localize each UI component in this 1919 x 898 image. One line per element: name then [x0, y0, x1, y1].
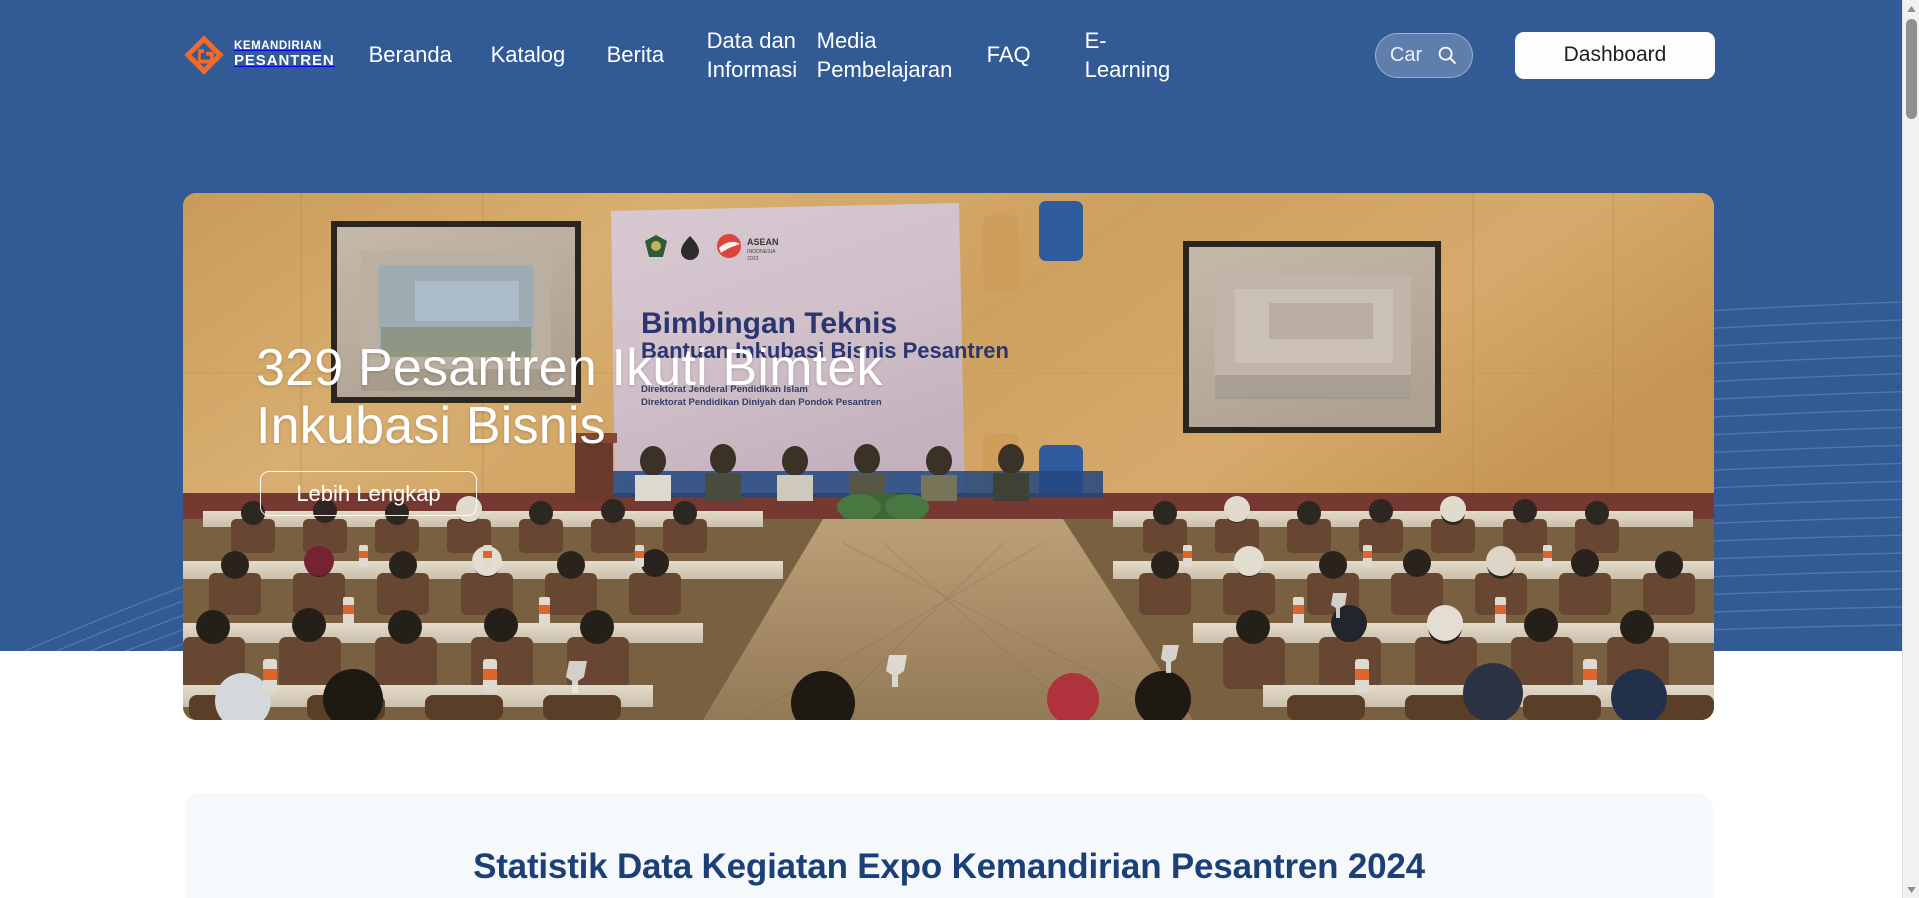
- statistics-section-card: Statistik Data Kegiatan Expo Kemandirian…: [185, 793, 1713, 898]
- nav-item-faq[interactable]: FAQ: [987, 40, 1085, 69]
- nav-item-katalog[interactable]: Katalog: [491, 40, 607, 69]
- page-viewport: KEMANDIRIAN PESANTREN Beranda Katalog Be…: [0, 0, 1902, 898]
- nav-links: Beranda Katalog Berita Data dan Informas…: [369, 26, 1367, 85]
- nav-item-media-pembelajaran[interactable]: Media Pembelajaran: [817, 26, 987, 85]
- brand-line2: PESANTREN: [234, 53, 335, 68]
- statistics-title: Statistik Data Kegiatan Expo Kemandirian…: [185, 847, 1713, 887]
- kemandirian-pesantren-diamond-logo-icon: [183, 34, 225, 76]
- brand-wordmark: KEMANDIRIAN PESANTREN: [234, 41, 335, 68]
- nav-item-beranda[interactable]: Beranda: [369, 40, 491, 69]
- page-scrollbar[interactable]: [1902, 0, 1919, 898]
- scrollbar-down-button[interactable]: [1903, 881, 1919, 898]
- dashboard-button[interactable]: Dashboard: [1515, 32, 1715, 79]
- nav-item-data-dan-informasi[interactable]: Data dan Informasi: [707, 26, 817, 85]
- search-box[interactable]: Car: [1375, 33, 1473, 78]
- main-navbar: KEMANDIRIAN PESANTREN Beranda Katalog Be…: [0, 0, 1902, 110]
- search-input[interactable]: Car: [1390, 45, 1422, 65]
- hero-banner-card[interactable]: ASEAN INDONESIA 2023 Bimbingan Teknis Ba…: [183, 193, 1714, 720]
- brand-logo-link[interactable]: KEMANDIRIAN PESANTREN: [183, 34, 335, 76]
- nav-item-e-learning[interactable]: E-Learning: [1085, 26, 1190, 85]
- scrollbar-thumb[interactable]: [1906, 19, 1917, 119]
- hero-photo: ASEAN INDONESIA 2023 Bimbingan Teknis Ba…: [183, 193, 1714, 720]
- hero-cta-button[interactable]: Lebih Lengkap: [260, 471, 477, 516]
- chevron-down-icon: [1907, 887, 1916, 893]
- scrollbar-up-button[interactable]: [1903, 0, 1919, 17]
- search-icon[interactable]: [1436, 44, 1458, 66]
- chevron-up-icon: [1907, 6, 1916, 12]
- nav-item-berita[interactable]: Berita: [607, 40, 707, 69]
